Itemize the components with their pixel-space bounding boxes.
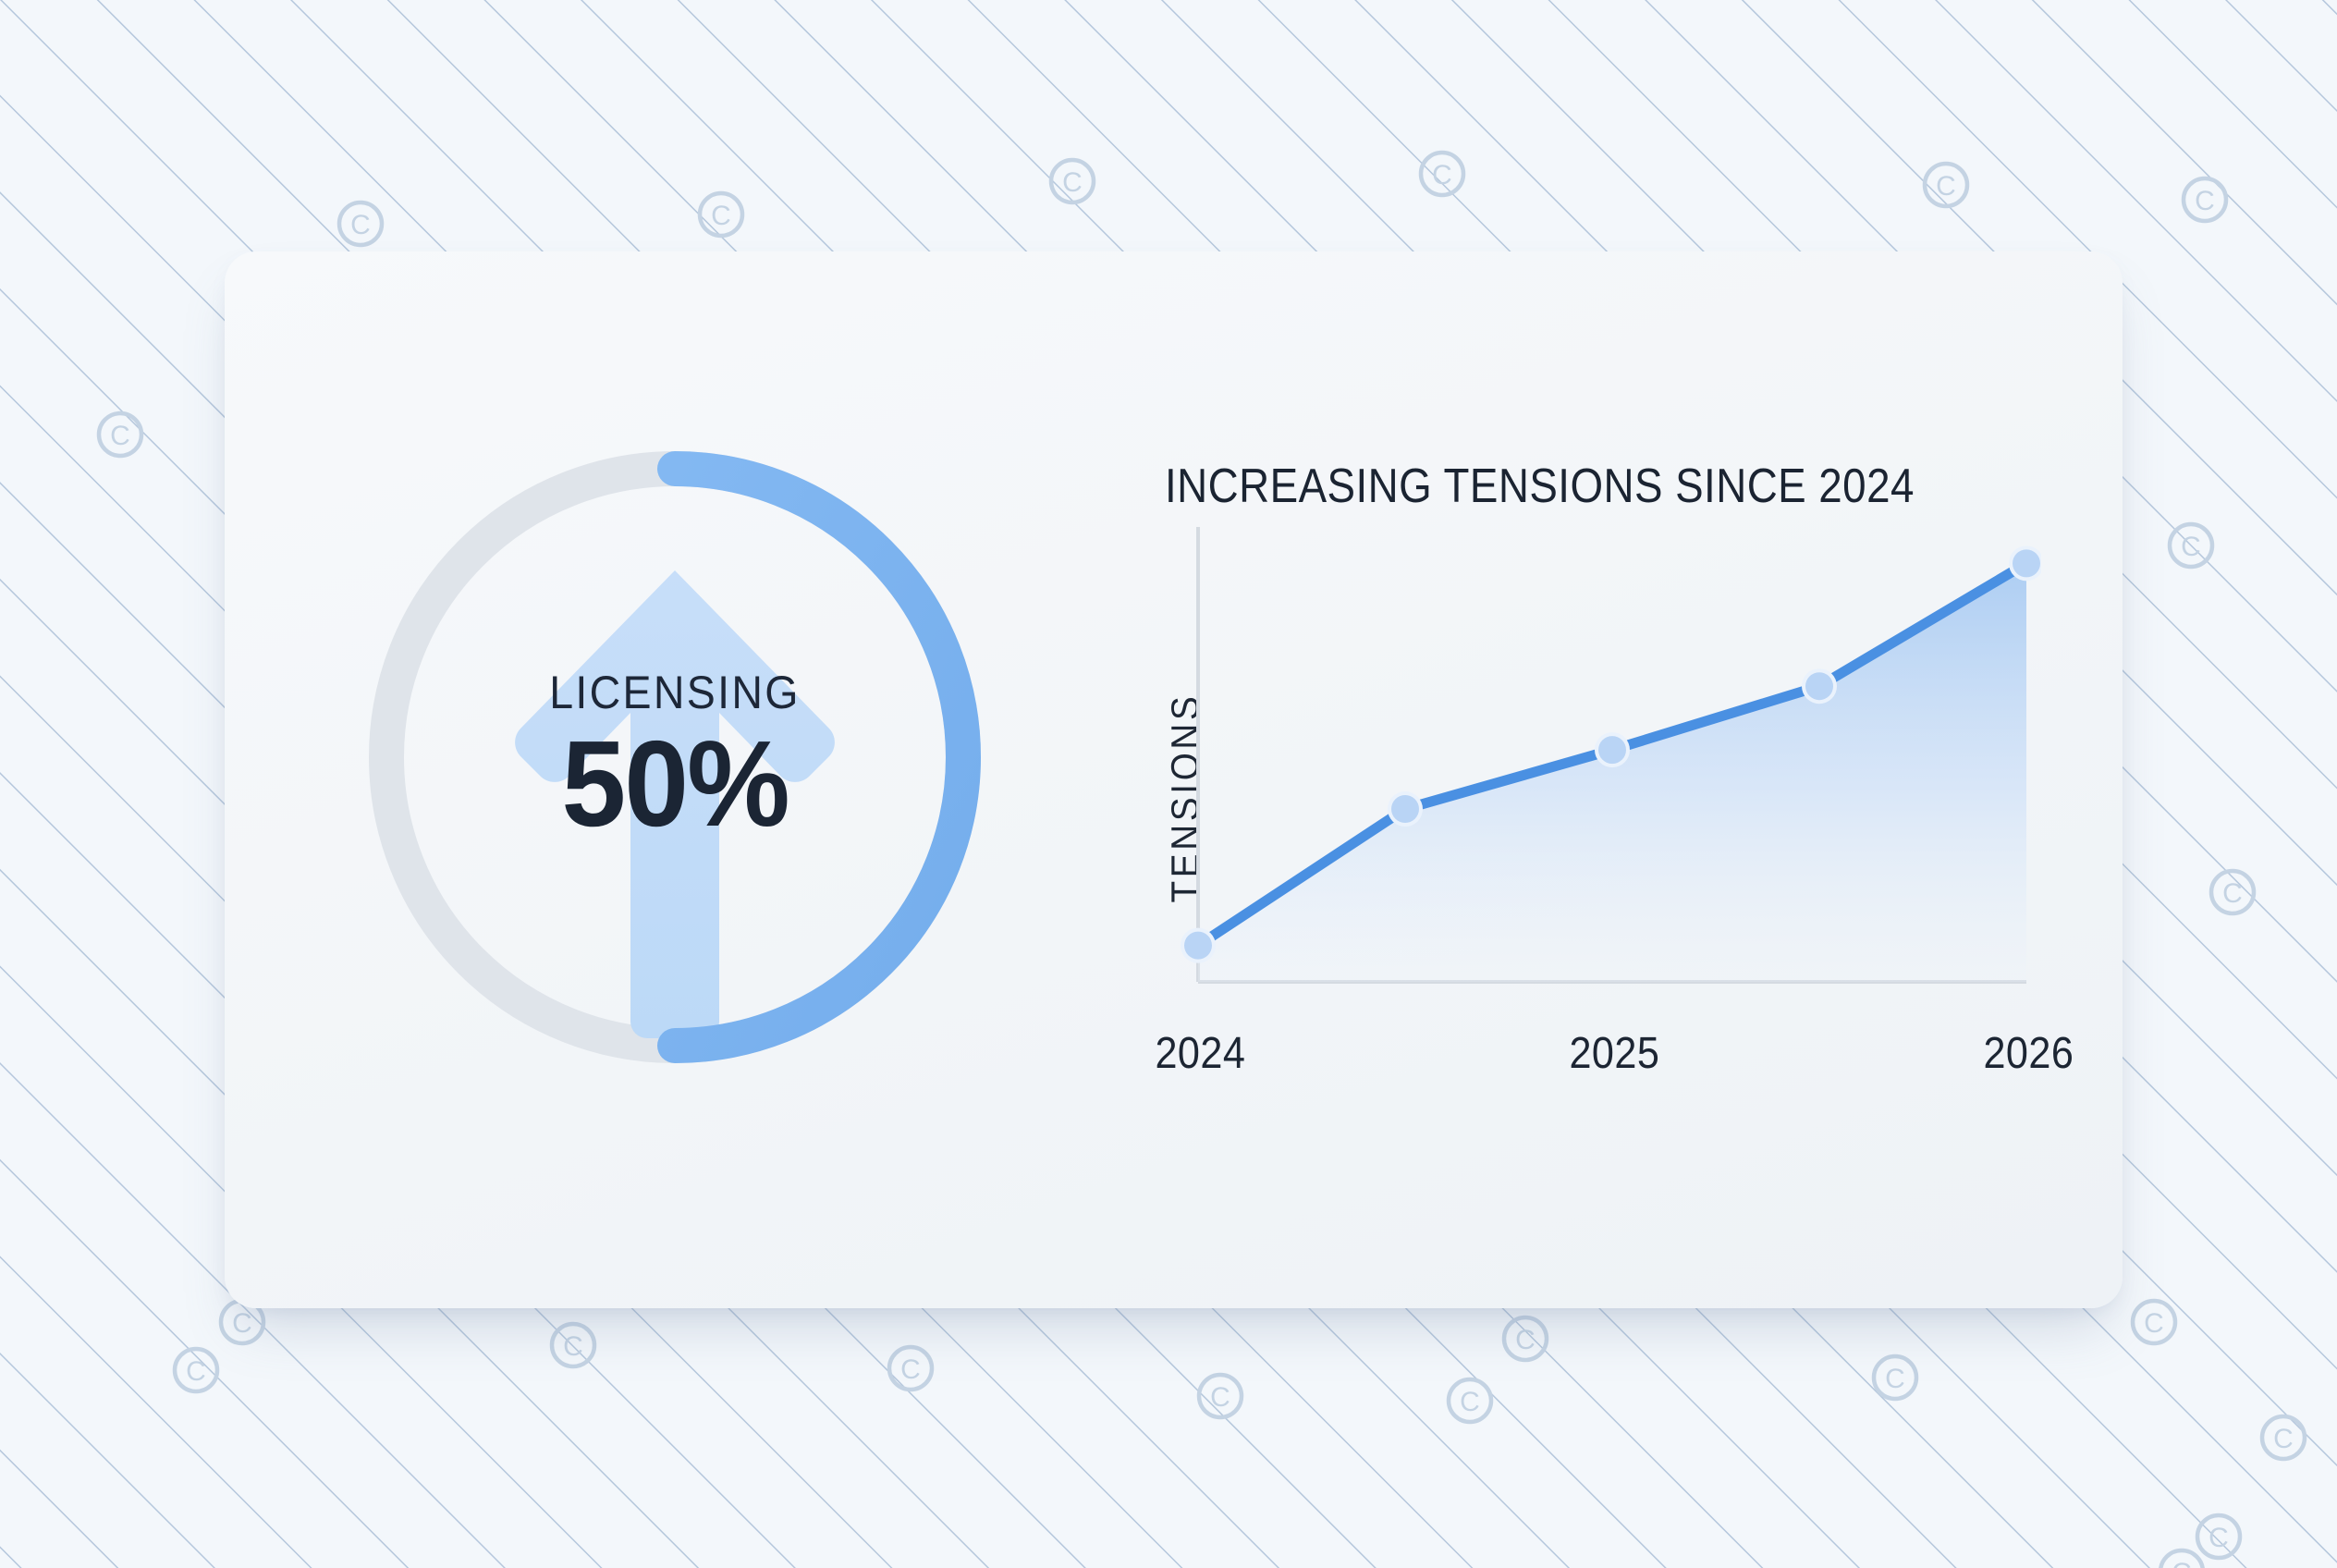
copyright-icon: C [175,1349,217,1391]
svg-text:C: C [1885,1364,1905,1394]
svg-text:C: C [232,1308,252,1339]
svg-text:C: C [1432,160,1452,190]
copyright-icon: C [2262,1416,2305,1459]
card-content: LICENSING 50% INCREASING TENSIONS SINCE … [225,251,2123,1308]
svg-text:C: C [2222,878,2243,909]
copyright-icon: C [99,413,141,456]
svg-text:C: C [1515,1325,1536,1355]
copyright-icon: C [339,202,382,245]
copyright-icon: C [1925,164,1967,206]
copyright-icon: C [1051,160,1094,202]
svg-text:C: C [563,1331,583,1362]
copyright-icon: C [2133,1301,2175,1343]
donut-gauge-svg [351,434,998,1081]
svg-text:C: C [2181,532,2201,562]
copyright-icon: C [2170,524,2212,567]
svg-text:C: C [1210,1382,1230,1413]
svg-text:C: C [711,201,731,231]
chart-x-tick-labels: 202420252026 [1117,1028,2041,1093]
licensing-gauge-panel: LICENSING 50% [225,251,1117,1308]
x-tick-label: 2025 [1569,1028,1659,1079]
chart-title: INCREASING TENSIONS SINCE 2024 [1165,459,1915,514]
data-point[interactable] [1391,795,1419,823]
tensions-chart-panel: INCREASING TENSIONS SINCE 2024 TENSIONS [1117,251,2123,1308]
copyright-icon: C [2184,178,2226,221]
svg-text:C: C [2144,1308,2164,1339]
copyright-icon: C [889,1347,932,1390]
svg-text:C: C [1062,167,1083,198]
copyright-icon: C [1504,1317,1547,1360]
x-tick-label: 2024 [1155,1028,1245,1079]
copyright-icon: C [1874,1356,1916,1399]
svg-text:C: C [2195,186,2215,216]
chart-plot-area [1117,520,2041,1010]
x-tick-label: 2026 [1983,1028,2074,1079]
copyright-icon: C [1199,1375,1242,1417]
copyright-icon: C [1449,1379,1491,1422]
copyright-icon: C [700,193,742,236]
svg-text:C: C [186,1356,206,1387]
svg-text:C: C [110,421,130,451]
svg-text:C: C [350,210,371,240]
chart-area-fill [1198,563,2026,982]
copyright-icon: C [2197,1515,2240,1558]
data-point[interactable] [1805,672,1833,700]
donut-gauge: LICENSING 50% [351,434,998,1081]
data-point[interactable] [1184,932,1212,960]
svg-text:C: C [900,1354,921,1385]
copyright-icon: C [2211,871,2254,913]
svg-text:C: C [1460,1387,1480,1417]
svg-text:C: C [2172,1558,2192,1568]
copyright-icon: C [552,1324,594,1366]
data-point[interactable] [2013,549,2040,577]
copyright-icon: C [2160,1550,2203,1568]
svg-text:C: C [2273,1424,2294,1454]
svg-text:C: C [1936,171,1956,202]
arrow-up-icon [515,570,835,1038]
copyright-icon: C [1421,153,1463,195]
svg-text:C: C [2209,1523,2229,1553]
infographic-card: LICENSING 50% INCREASING TENSIONS SINCE … [225,251,2123,1308]
data-point[interactable] [1598,736,1626,764]
